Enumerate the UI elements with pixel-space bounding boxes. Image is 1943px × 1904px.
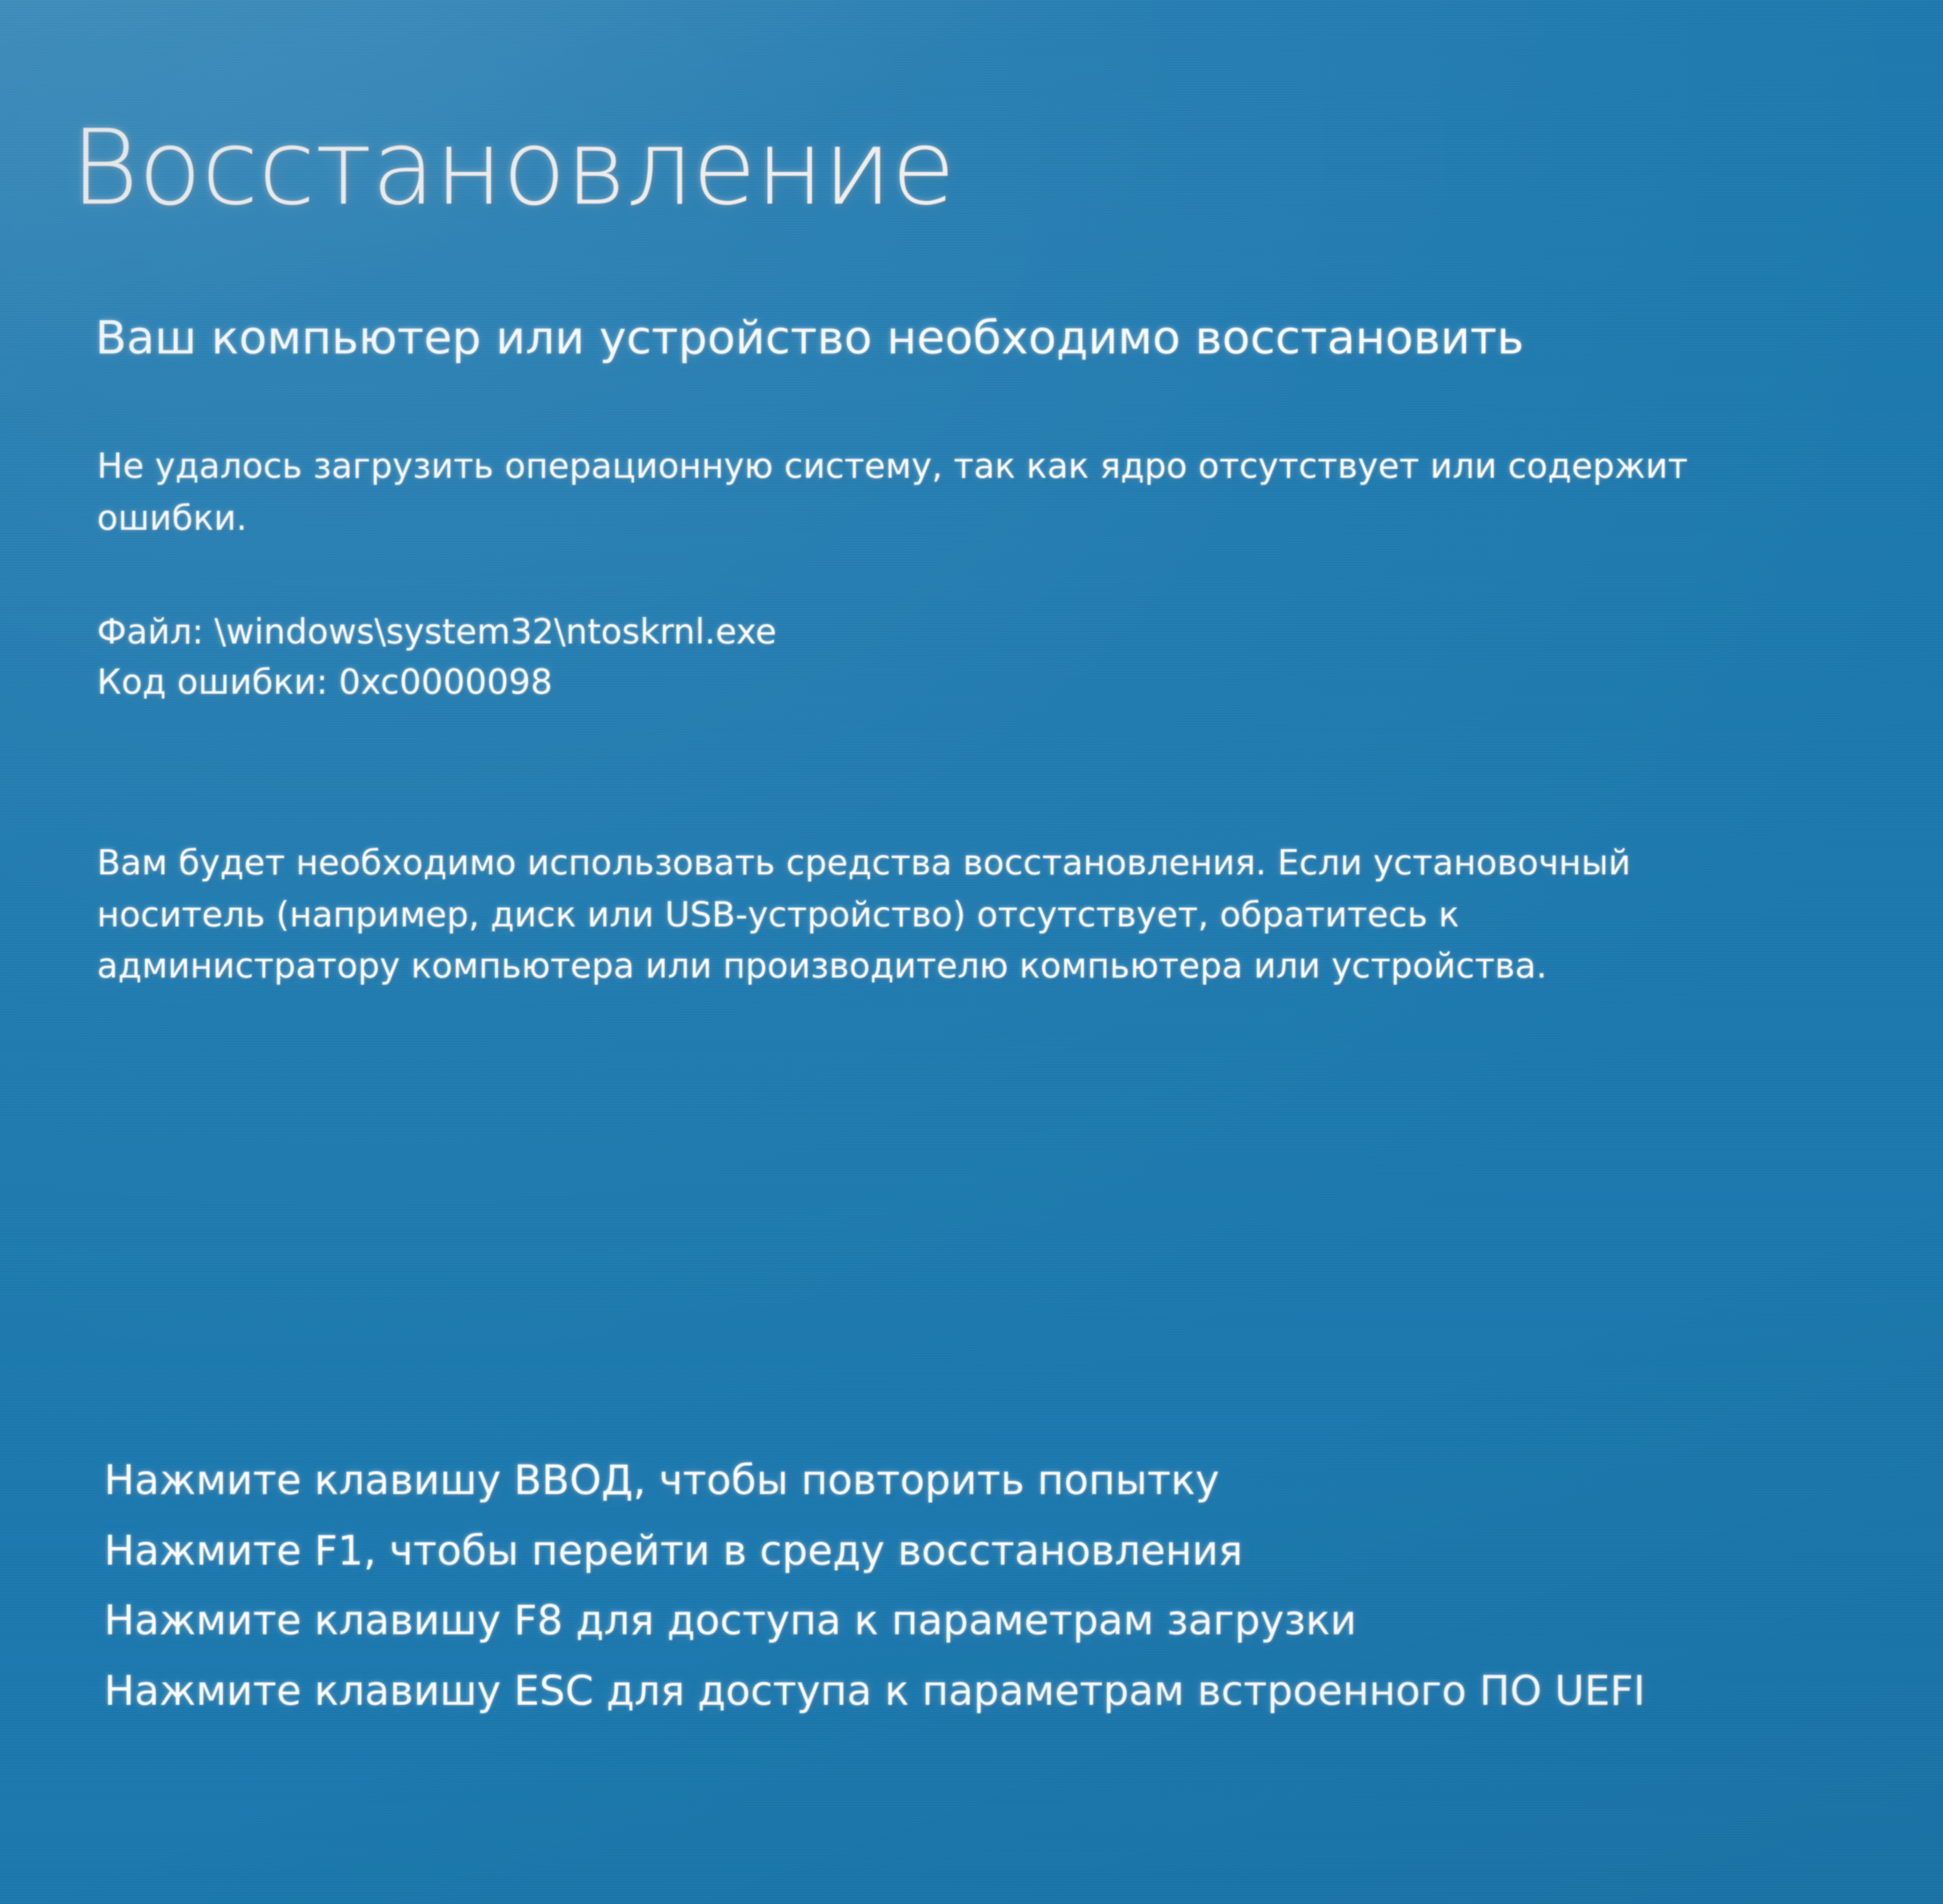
error-file-line: Файл: \windows\system32\ntoskrnl.exe xyxy=(97,608,1331,658)
key-option-f8[interactable]: Нажмите клавишу F8 для доступа к парамет… xyxy=(104,1586,1797,1656)
key-option-esc[interactable]: Нажмите клавишу ESC для доступа к параме… xyxy=(104,1656,1797,1727)
key-option-enter[interactable]: Нажмите клавишу ВВОД, чтобы повторить по… xyxy=(104,1446,1797,1516)
error-code-line: Код ошибки: 0xc0000098 xyxy=(97,658,1331,709)
key-option-f1[interactable]: Нажмите F1, чтобы перейти в среду восста… xyxy=(104,1516,1797,1587)
key-options-list: Нажмите клавишу ВВОД, чтобы повторить по… xyxy=(104,1446,1797,1726)
error-reason-paragraph: Не удалось загрузить операционную систем… xyxy=(97,442,1710,545)
recovery-instructions-paragraph: Вам будет необходимо использовать средст… xyxy=(97,838,1684,993)
error-details-block: Файл: \windows\system32\ntoskrnl.exe Код… xyxy=(97,608,1331,708)
recovery-screen: Восстановление Ваш компьютер или устройс… xyxy=(0,0,1943,1904)
page-title: Восстановление xyxy=(71,112,955,224)
recovery-headline: Ваш компьютер или устройство необходимо … xyxy=(95,311,1524,367)
